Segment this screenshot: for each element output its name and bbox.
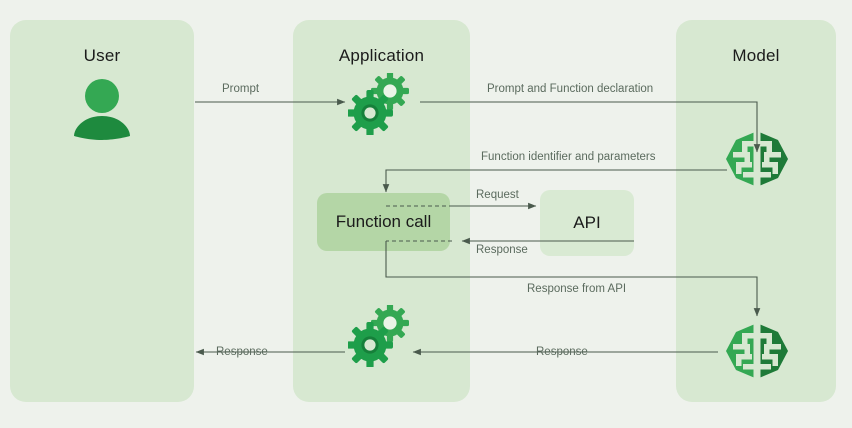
lane-model-title: Model [676, 46, 836, 66]
edge-label-prompt-and-function-declaration: Prompt and Function declaration [487, 83, 653, 95]
node-function-call-label: Function call [336, 212, 431, 232]
node-api-label: API [573, 213, 600, 233]
edge-label-response-user: Response [216, 346, 268, 358]
lane-user-title: User [10, 46, 194, 66]
node-function-call[interactable]: Function call [317, 193, 450, 251]
edge-label-request: Request [476, 189, 519, 201]
brain-icon [722, 128, 792, 190]
diagram-canvas: User Application Model Function call API [0, 0, 852, 428]
edge-label-function-identifier-and-parameters: Function identifier and parameters [481, 151, 656, 163]
edge-label-response-from-api: Response from API [527, 283, 626, 295]
lane-application-title: Application [293, 46, 470, 66]
edge-label-response-model: Response [536, 346, 588, 358]
edge-label-prompt: Prompt [222, 83, 259, 95]
gears-icon [348, 73, 416, 135]
brain-icon [722, 320, 792, 382]
edge-label-response-api: Response [476, 244, 528, 256]
gears-icon [348, 305, 416, 367]
user-icon [72, 78, 132, 140]
node-api[interactable]: API [540, 190, 634, 256]
